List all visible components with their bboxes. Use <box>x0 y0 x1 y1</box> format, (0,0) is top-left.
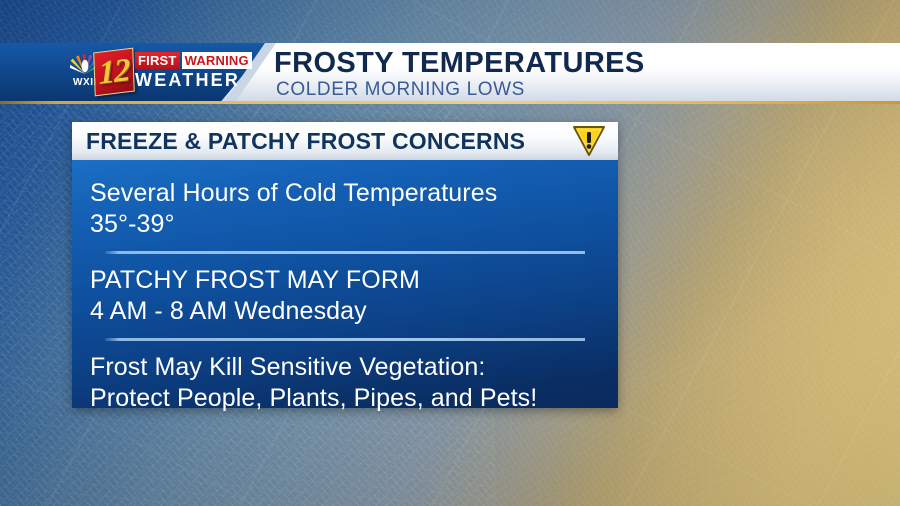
warning-triangle-icon <box>572 125 606 157</box>
info-block-protection: Frost May Kill Sensitive Vegetation: Pro… <box>90 352 600 414</box>
info-panel: FREEZE & PATCHY FROST CONCERNS Several H… <box>72 122 618 408</box>
panel-header: FREEZE & PATCHY FROST CONCERNS <box>72 122 618 160</box>
panel-body: Several Hours of Cold Temperatures 35°-3… <box>72 160 618 408</box>
brand-first: FIRST <box>135 52 180 69</box>
block-line-1: Frost May Kill Sensitive Vegetation: <box>90 352 600 383</box>
block-line-1: PATCHY FROST MAY FORM <box>90 265 600 296</box>
page-subtitle: COLDER MORNING LOWS <box>276 79 525 100</box>
weather-graphic: WXII 12 FIRST WARNING WEATHER FROSTY TEM… <box>0 0 900 506</box>
panel-heading: FREEZE & PATCHY FROST CONCERNS <box>86 128 525 155</box>
info-block-frost-timing: PATCHY FROST MAY FORM 4 AM - 8 AM Wednes… <box>90 265 600 327</box>
header-gold-rule <box>0 101 900 104</box>
divider-2 <box>105 338 585 341</box>
page-title: FROSTY TEMPERATURES <box>274 48 645 79</box>
block-line-2: 35°-39° <box>90 209 600 240</box>
block-line-2: 4 AM - 8 AM Wednesday <box>90 296 600 327</box>
first-warning-row: FIRST WARNING <box>135 52 240 69</box>
info-block-temperatures: Several Hours of Cold Temperatures 35°-3… <box>90 178 600 240</box>
block-line-2: Protect People, Plants, Pipes, and Pets! <box>90 383 600 414</box>
divider-1 <box>105 251 585 254</box>
channel-number-badge: 12 <box>93 48 135 97</box>
brand-warning: WARNING <box>182 52 252 69</box>
first-warning-weather-logo: FIRST WARNING WEATHER <box>135 52 240 90</box>
block-line-1: Several Hours of Cold Temperatures <box>90 178 600 209</box>
channel-number: 12 <box>94 49 133 95</box>
brand-weather: WEATHER <box>135 70 240 90</box>
